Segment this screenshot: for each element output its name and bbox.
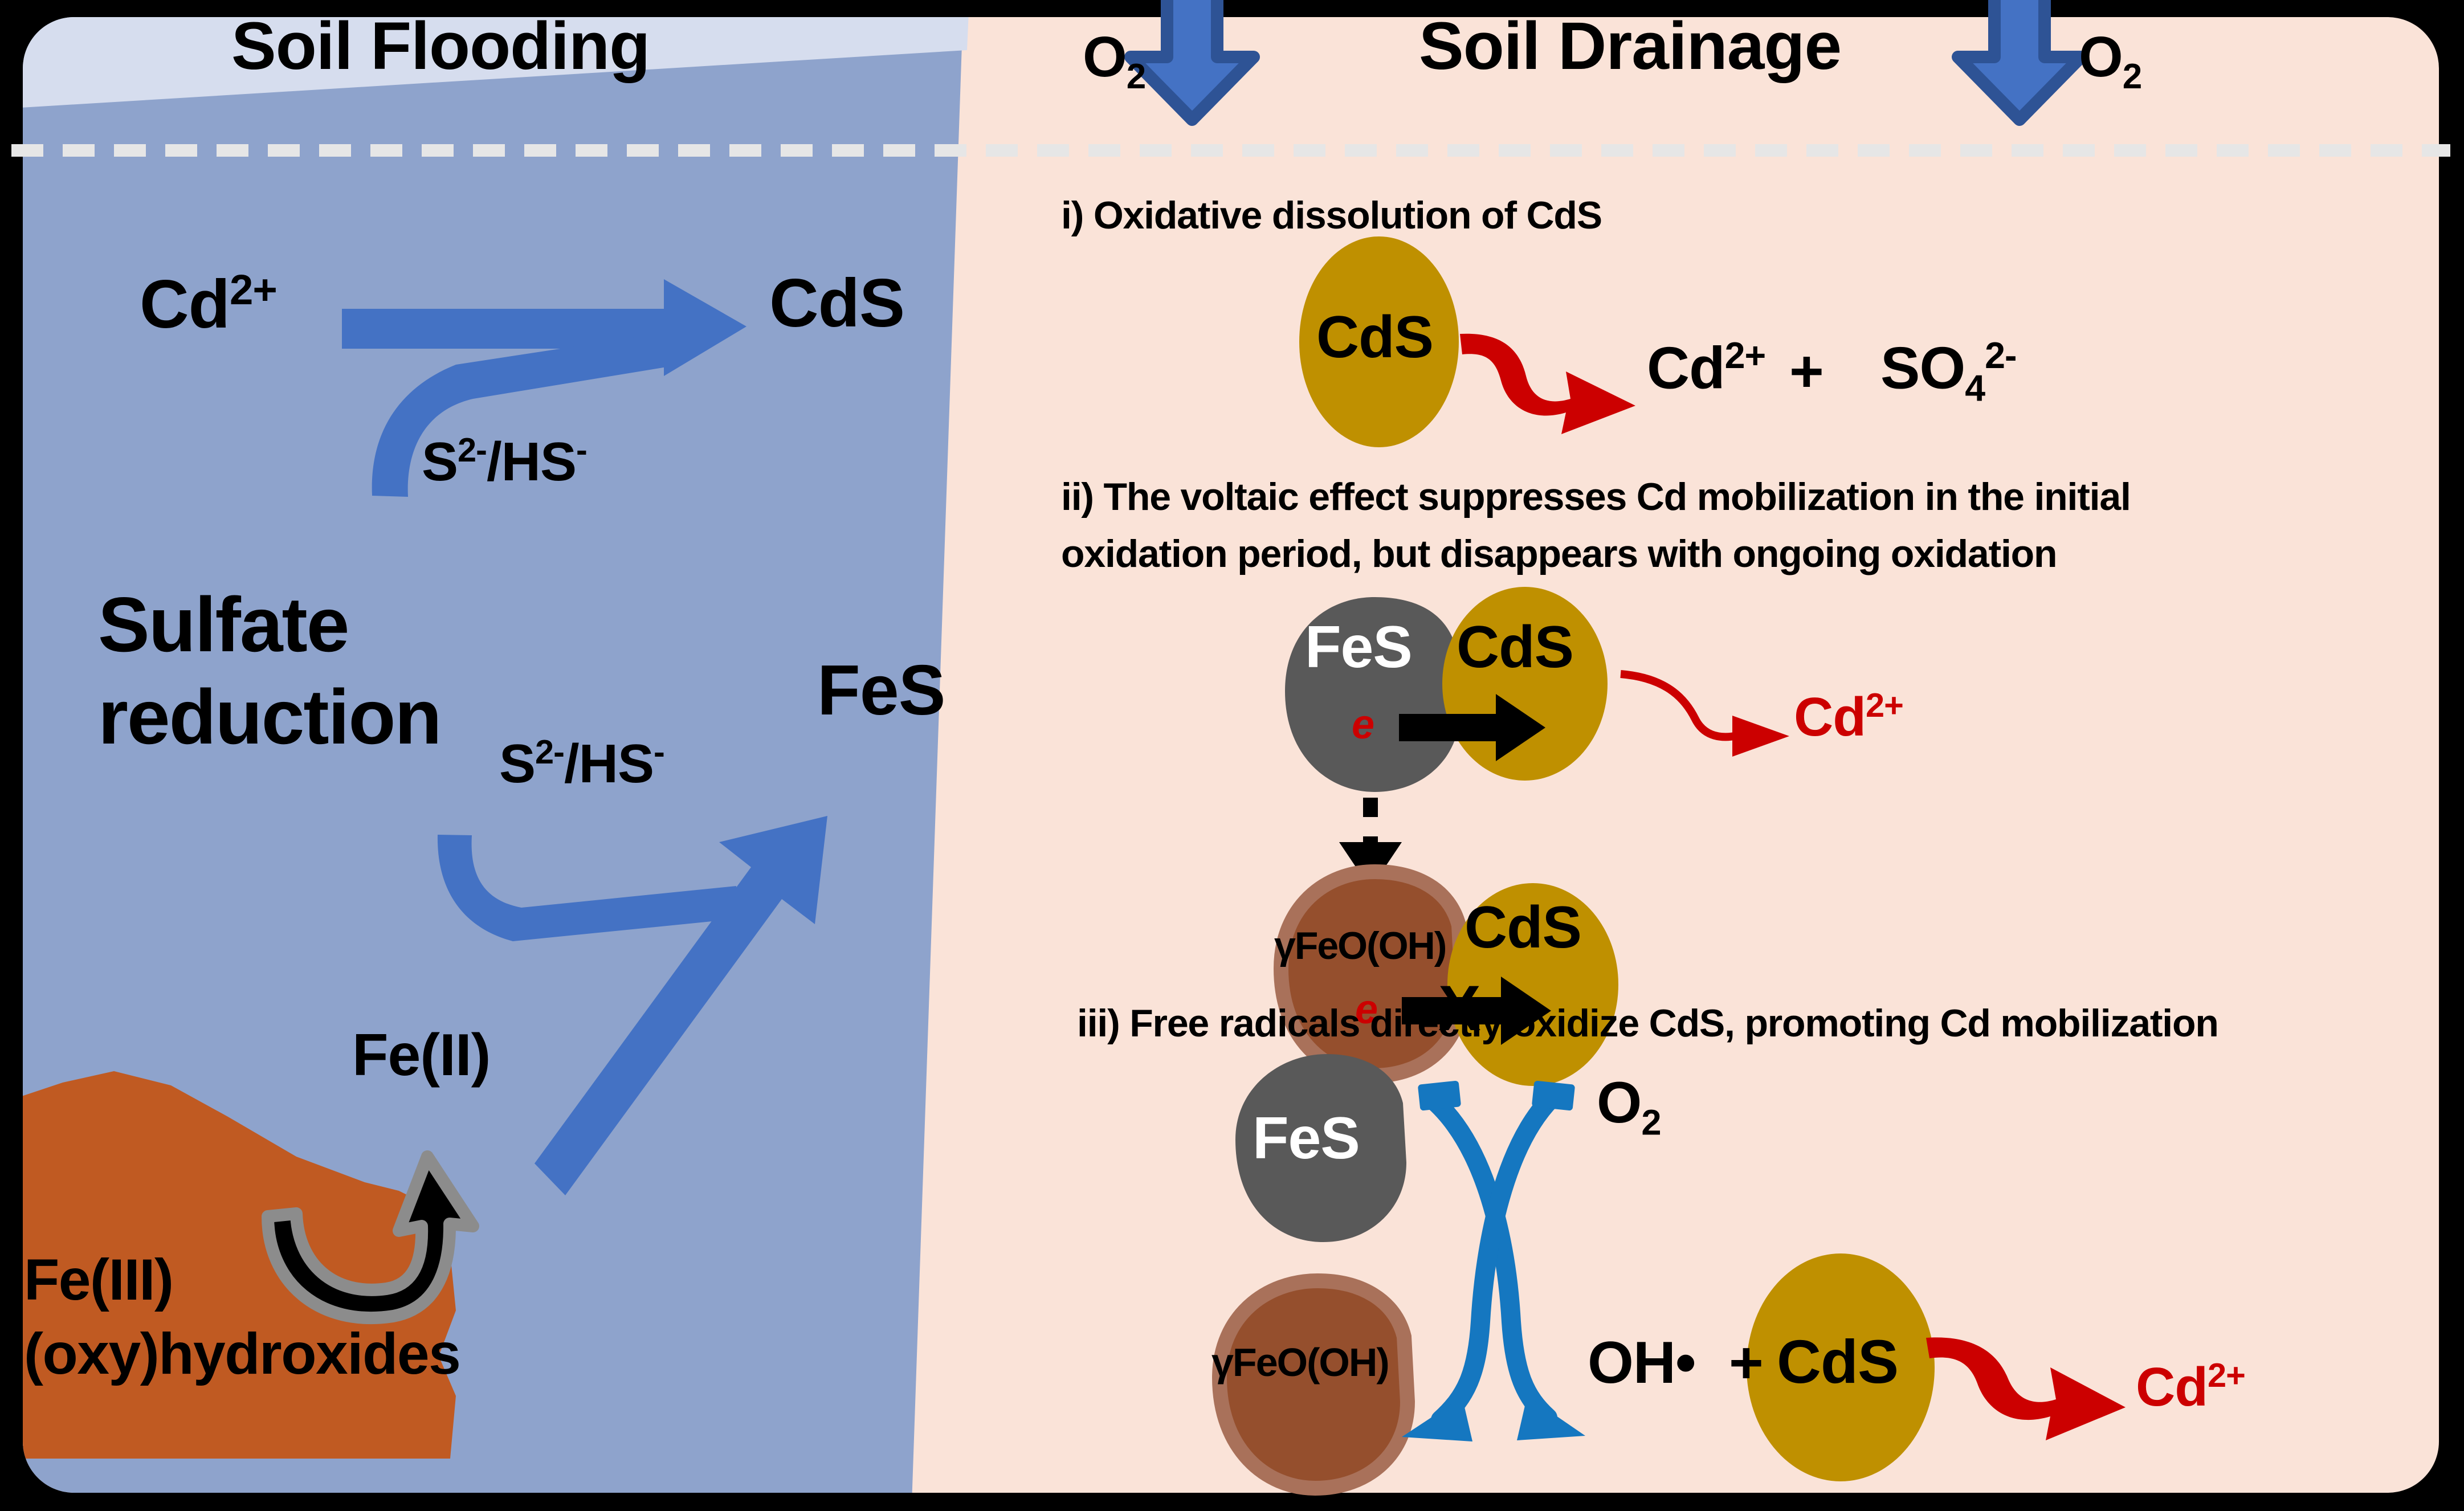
step-iii-fes-label: FeS xyxy=(1253,1109,1360,1168)
sulfate-symbol: SO xyxy=(1880,336,1965,402)
sulfide-charge: 2- xyxy=(458,431,487,469)
sulfate-reduction-line2: reduction xyxy=(98,678,441,755)
o2-subscript-left: 2 xyxy=(1127,57,1145,96)
hydroxyl-radical-label: OH• xyxy=(1588,1333,1695,1392)
step-iii-released-cadmium: Cd2+ xyxy=(2136,1358,2245,1415)
o2-reduction-tail xyxy=(1532,1080,1575,1110)
o2-label-left: O2 xyxy=(1083,28,1145,95)
step-i-plus-sign: + xyxy=(1789,342,1823,401)
o2-symbol-right: O xyxy=(2079,25,2123,89)
step-ii-released-cadmium: Cd2+ xyxy=(1794,688,1903,745)
step-iii-heading: iii) Free radicals directly oxidize CdS,… xyxy=(1077,1004,2218,1043)
sulfate-charge: 2- xyxy=(1985,335,2016,376)
sulfide-species-label-top: S2-/HS- xyxy=(422,433,587,489)
sulfide-charge-2: 2- xyxy=(535,733,564,771)
cadmium-ion-charge: 2+ xyxy=(230,266,277,313)
step-i-heading: i) Oxidative dissolution of CdS xyxy=(1061,196,1602,235)
step-ii-cds-label-top: CdS xyxy=(1457,618,1573,677)
step-ii-cd-charge: 2+ xyxy=(1866,686,1903,724)
bisulfide-charge-2: - xyxy=(654,733,664,771)
ferric-oxide-label-line2: (oxy)hydroxides xyxy=(24,1325,460,1383)
step-i-cadmium-product: Cd2+ xyxy=(1647,337,1765,398)
feooh-particle-step3 xyxy=(1219,1281,1408,1488)
step-iii-cd-charge: 2+ xyxy=(2208,1356,2245,1394)
step-ii-fes-label: FeS xyxy=(1305,618,1412,677)
o2-symbol-left: O xyxy=(1083,25,1127,89)
cadmium-ion-label: Cd2+ xyxy=(140,269,277,338)
sulfate-subscript: 4 xyxy=(1965,367,1985,409)
o2-subscript-right: 2 xyxy=(2123,57,2141,96)
step-iii-cd-symbol: Cd xyxy=(2136,1357,2208,1418)
feooh-particle-step2 xyxy=(1281,872,1462,1076)
sulfide-symbol-2: S xyxy=(499,733,535,794)
fes-product-label: FeS xyxy=(817,655,945,726)
bisulfide-symbol-2: /HS xyxy=(564,733,654,794)
flooding-panel-title: Soil Flooding xyxy=(231,13,650,80)
fes-oxidation-tail xyxy=(1418,1080,1461,1110)
step-i-cd-symbol: Cd xyxy=(1647,336,1725,402)
bisulfide-symbol: /HS xyxy=(487,431,576,492)
step-ii-cds-label-bottom: CdS xyxy=(1464,898,1581,957)
step-iii-o2-subscript: 2 xyxy=(1641,1102,1661,1142)
diagram-canvas: Soil Flooding Cd2+ CdS S2-/HS- Sulfate r… xyxy=(0,0,2464,1511)
step-i-cd-charge: 2+ xyxy=(1725,335,1766,376)
step-iii-cds-label: CdS xyxy=(1777,1331,1898,1392)
sulfide-species-label-bottom: S2-/HS- xyxy=(499,735,664,791)
step-ii-electron-label-top: e xyxy=(1352,704,1374,745)
cds-product-label: CdS xyxy=(769,269,904,337)
step-i-sulfate-product: SO42- xyxy=(1880,337,2016,407)
o2-label-right: O2 xyxy=(2079,28,2141,95)
ferrous-iron-label: Fe(II) xyxy=(352,1026,490,1085)
step-iii-feooh-label: γFeO(OH) xyxy=(1211,1342,1389,1382)
step-iii-plus-sign: + xyxy=(1729,1333,1763,1392)
step-ii-heading-line2: oxidation period, but disappears with on… xyxy=(1061,534,2057,573)
sulfate-reduction-line1: Sulfate xyxy=(98,586,348,663)
step-iii-o2-label: O2 xyxy=(1597,1073,1661,1141)
step-i-cds-label: CdS xyxy=(1316,308,1433,367)
ferric-oxide-label-line1: Fe(III) xyxy=(24,1251,173,1309)
step-iii-o2-symbol: O xyxy=(1597,1070,1641,1135)
cadmium-ion-symbol: Cd xyxy=(140,266,230,342)
step-ii-feooh-label: γFeO(OH) xyxy=(1274,926,1446,965)
sulfide-symbol: S xyxy=(422,431,458,492)
step-ii-heading-line1: ii) The voltaic effect suppresses Cd mob… xyxy=(1061,477,2131,516)
step-ii-cd-symbol: Cd xyxy=(1794,687,1866,748)
drainage-panel-title: Soil Drainage xyxy=(1419,13,1841,80)
bisulfide-charge: - xyxy=(576,431,587,469)
